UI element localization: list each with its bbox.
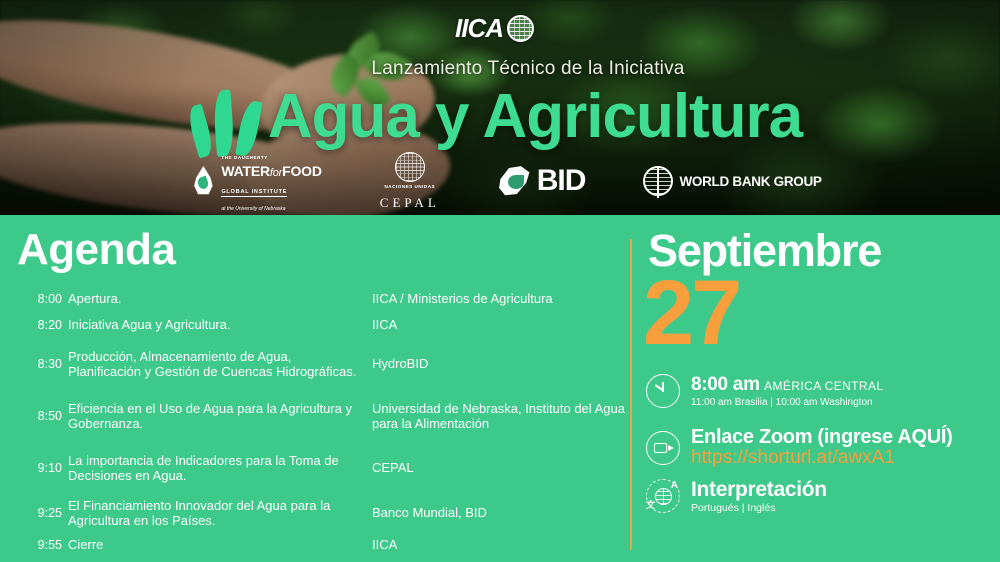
zoom-link-url[interactable]: https://shorturl.at/awxA1 [691, 448, 953, 469]
sponsor-logo-strip: THE DAUGHERTY WATERforFOOD GLOBAL INSTIT… [0, 150, 1000, 212]
world-bank-wordmark: WORLD BANK GROUP [679, 174, 821, 189]
agenda-speaker: Banco Mundial, BID [372, 505, 626, 520]
sponsor-bid-logo: BID [498, 166, 586, 197]
table-row: 8:20 Iniciativa Agua y Agricultura. IICA [0, 312, 626, 338]
agenda-topic: Eficiencia en el Uso de Agua para la Agr… [68, 401, 372, 432]
table-row: 8:30 Producción, Almacenamiento de Agua,… [0, 338, 626, 390]
bid-wordmark: BID [537, 166, 586, 196]
table-row: 8:50 Eficiencia en el Uso de Agua para l… [0, 390, 626, 442]
cepal-wordmark: CEPAL [380, 195, 440, 211]
agenda-topic: Cierre [68, 537, 372, 552]
agenda-speaker: IICA / Ministerios de Agricultura [372, 291, 626, 306]
cepal-un-label: NACIONES UNIDAS [384, 184, 435, 189]
agenda-heading: Agenda [17, 228, 175, 272]
sponsor-water-for-food-logo: THE DAUGHERTY WATERforFOOD GLOBAL INSTIT… [192, 147, 321, 214]
world-bank-globe-icon [643, 166, 673, 196]
wff-line4: at the University of Nebraska [221, 206, 285, 212]
agenda-time: 8:50 [0, 409, 68, 423]
agenda-topic: Producción, Almacenamiento de Agua, Plan… [68, 349, 372, 380]
wff-for: for [270, 167, 282, 179]
agenda-topic: El Financiamiento Innovador del Agua par… [68, 498, 372, 529]
agenda-table: 8:00 Apertura. IICA / Ministerios de Agr… [0, 286, 626, 558]
wff-line1: THE DAUGHERTY [221, 155, 268, 160]
agenda-time: 8:00 [0, 292, 68, 306]
interpretation-languages: Portugués | Inglés [691, 503, 827, 515]
event-kicker: Lanzamiento Técnico de la Iniciativa [56, 58, 1000, 80]
table-row: 8:00 Apertura. IICA / Ministerios de Agr… [0, 286, 626, 312]
table-row: 9:10 La importancia de Indicadores para … [0, 442, 626, 494]
vertical-divider [630, 239, 632, 550]
agenda-topic: La importancia de Indicadores para la To… [68, 453, 372, 484]
agenda-topic: Iniciativa Agua y Agricultura. [68, 317, 372, 332]
event-other-timezones: 11:00 am Brasilia | 10:00 am Washington [691, 397, 883, 408]
event-title: Agua y Agricultura [268, 86, 802, 148]
wff-line3: GLOBAL INSTITUTE [221, 189, 287, 197]
water-leaf-icon [198, 82, 256, 156]
bid-leaf-icon [498, 166, 531, 197]
agenda-speaker: HydroBID [372, 356, 626, 371]
wff-water: WATER [221, 163, 270, 179]
un-emblem-icon [395, 152, 425, 182]
agenda-time: 9:10 [0, 461, 68, 475]
zoom-link-block[interactable]: Enlace Zoom (ingrese AQUÍ) https://short… [646, 426, 953, 469]
agenda-time: 9:55 [0, 538, 68, 552]
video-camera-icon [646, 431, 680, 465]
water-drop-icon [192, 166, 214, 196]
interpretation-label: Interpretación [691, 478, 827, 502]
interpretation-block: A 文 Interpretación Portugués | Inglés [646, 478, 827, 514]
event-time: 8:00 am [691, 374, 760, 395]
translate-globe-icon: A 文 [646, 479, 680, 513]
agenda-speaker: IICA [372, 317, 626, 332]
event-poster: IICA Lanzamiento Técnico de la Iniciativ… [0, 0, 1000, 562]
agenda-speaker: IICA [372, 537, 626, 552]
zoom-link-label[interactable]: Enlace Zoom (ingrese AQUÍ) [691, 426, 953, 448]
sponsor-cepal-logo: NACIONES UNIDAS CEPAL [380, 152, 440, 211]
agenda-time: 8:30 [0, 357, 68, 371]
iica-wordmark: IICA [455, 15, 503, 41]
event-time-block: 8:00 am AMÉRICA CENTRAL 11:00 am Brasili… [646, 374, 883, 408]
agenda-time: 9:25 [0, 506, 68, 520]
globe-icon [507, 15, 534, 42]
agenda-speaker: CEPAL [372, 460, 626, 475]
agenda-topic: Apertura. [68, 291, 372, 306]
iica-logo: IICA [455, 12, 551, 44]
sponsor-world-bank-logo: WORLD BANK GROUP [643, 166, 821, 196]
agenda-time: 8:20 [0, 318, 68, 332]
table-row: 9:25 El Financiamiento Innovador del Agu… [0, 494, 626, 532]
clock-icon [646, 374, 680, 408]
table-row: 9:55 Cierre IICA [0, 532, 626, 558]
title-block: Lanzamiento Técnico de la Iniciativa Agu… [0, 58, 1000, 156]
agenda-speaker: Universidad de Nebraska, Instituto del A… [372, 401, 626, 432]
poster-header: IICA Lanzamiento Técnico de la Iniciativ… [0, 0, 1000, 215]
event-day: 27 [643, 267, 739, 359]
event-timezone: AMÉRICA CENTRAL [764, 379, 883, 393]
wff-food: FOOD [282, 163, 322, 179]
